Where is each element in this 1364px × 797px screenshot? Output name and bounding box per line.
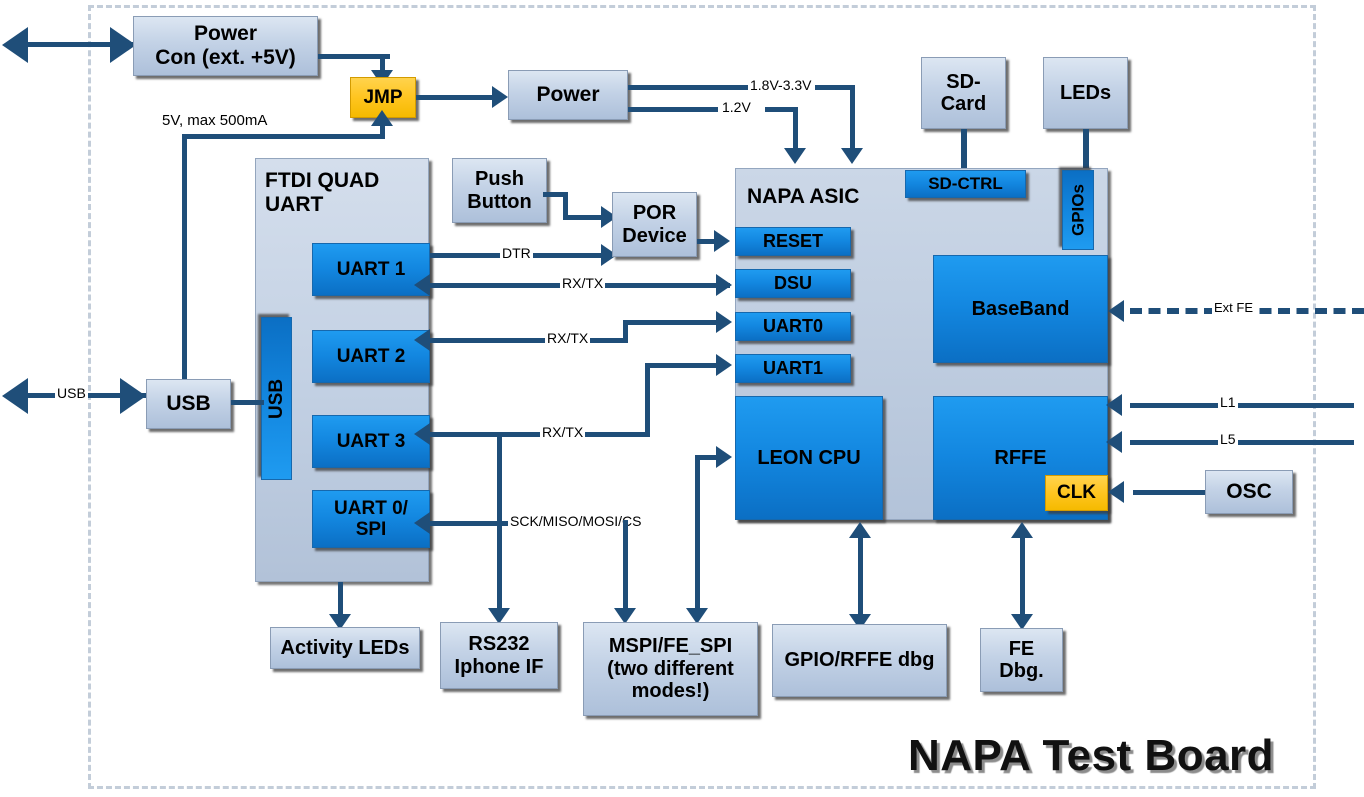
block-gpios-label: GPIOs [1068, 184, 1087, 236]
arrowhead-rffe-l1 [1106, 394, 1122, 416]
wire-18v33v-v [850, 85, 855, 150]
block-usb-connector[interactable]: USB [146, 379, 231, 429]
block-uart3[interactable]: UART 3 [312, 415, 430, 468]
wire-label-usb-external: USB [55, 385, 88, 401]
arrowhead-rffe-l5 [1106, 431, 1122, 453]
arrowhead-jmp-bottom [371, 110, 393, 126]
block-uart0-spi[interactable]: UART 0/ SPI [312, 490, 430, 548]
wire-18v33v-h [628, 85, 750, 90]
block-mspi-fe-spi[interactable]: MSPI/FE_SPI (two different modes!) [583, 622, 758, 716]
block-usb-connector-label: USB [166, 392, 210, 416]
block-sd-ctrl[interactable]: SD-CTRL [905, 170, 1026, 198]
arrowhead-baseband-extfe [1108, 300, 1124, 322]
block-rs232-iphone-if-label: RS232 Iphone IF [455, 633, 544, 678]
wire-label-12v: 1.2V [720, 99, 753, 115]
block-uart1-label: UART 1 [337, 259, 406, 280]
wire-rxtx3-vert [645, 363, 650, 435]
wire-label-5v: 5V, max 500mA [160, 112, 269, 129]
wire-fe-dbg [1020, 538, 1025, 618]
block-power-connector-label: Power Con (ext. +5V) [155, 22, 296, 69]
wire-18v33v-h2 [815, 85, 855, 90]
wire-pushbtn-h2 [563, 215, 603, 220]
block-power[interactable]: Power [508, 70, 628, 120]
block-sd-card[interactable]: SD- Card [921, 57, 1006, 129]
wire-5v-horizontal [182, 134, 385, 139]
wire-label-rxtx2: RX/TX [545, 330, 590, 346]
arrowhead-power-in [492, 86, 508, 108]
block-mspi-fe-spi-label: MSPI/FE_SPI (two different modes!) [607, 635, 734, 702]
arrowhead-fe-dbg-up [1011, 522, 1033, 538]
arrowhead-power-external-left [2, 27, 28, 63]
arrowhead-napa-power-12v [784, 148, 806, 164]
arrowhead-leon-cpu-in [716, 446, 732, 468]
block-sd-ctrl-label: SD-CTRL [928, 174, 1003, 193]
block-activity-leds[interactable]: Activity LEDs [270, 627, 420, 669]
wire-label-18v33v: 1.8V-3.3V [748, 77, 814, 93]
block-push-button-label: Push Button [467, 168, 531, 213]
wire-usbconn-to-ftdiusb [231, 400, 264, 405]
block-uart0-internal-label: UART0 [763, 316, 823, 336]
diagram-title: NAPA Test Board [908, 731, 1274, 781]
block-osc-label: OSC [1226, 480, 1272, 504]
block-fe-dbg[interactable]: FE Dbg. [980, 628, 1063, 692]
block-napa-asic-label: NAPA ASIC [747, 185, 859, 209]
wire-leon-left-vert [695, 455, 700, 612]
block-rs232-iphone-if[interactable]: RS232 Iphone IF [440, 622, 558, 689]
wire-mspi-left-vert [623, 520, 628, 612]
wire-label-ext-fe: Ext FE [1212, 300, 1255, 315]
arrowhead-uart1-rxtx [414, 274, 430, 296]
wire-label-l5: L5 [1218, 431, 1238, 447]
wire-jmp-to-power [416, 95, 494, 100]
block-ftdi-usb-port-label: USB [266, 378, 287, 418]
block-ftdi-quad-uart-label: FTDI QUAD UART [265, 169, 379, 216]
block-clk-label: CLK [1057, 482, 1096, 503]
wire-l5 [1130, 440, 1354, 445]
block-power-label: Power [536, 83, 599, 107]
wire-spi-vert-main [497, 432, 502, 612]
wire-label-rxtx3: RX/TX [540, 424, 585, 440]
block-uart2-label: UART 2 [337, 346, 406, 367]
block-leon-cpu-label: LEON CPU [757, 447, 860, 469]
arrowhead-uart3-rxtx [414, 423, 430, 445]
arrowhead-napa-power-18v [841, 148, 863, 164]
block-rffe-label: RFFE [994, 447, 1046, 469]
block-baseband-label: BaseBand [972, 298, 1070, 320]
wire-label-dtr: DTR [500, 245, 533, 261]
block-push-button[interactable]: Push Button [452, 158, 547, 223]
wire-gpio-rffe-dbg [858, 538, 863, 618]
block-power-connector[interactable]: Power Con (ext. +5V) [133, 16, 318, 76]
block-jmp-label: JMP [363, 87, 402, 108]
block-dsu[interactable]: DSU [735, 269, 851, 298]
block-por-device-label: POR Device [622, 202, 687, 247]
block-leds-label: LEDs [1060, 82, 1111, 104]
block-uart0-spi-label: UART 0/ SPI [334, 498, 408, 541]
wire-rxtx2-lower [430, 338, 628, 343]
block-activity-leds-label: Activity LEDs [281, 637, 410, 659]
wire-12v-h [628, 107, 718, 112]
arrowhead-usb-external-left [2, 378, 28, 414]
block-uart3-label: UART 3 [337, 431, 406, 452]
wire-rxtx2-upper [623, 320, 718, 325]
block-leon-cpu[interactable]: LEON CPU [735, 396, 883, 520]
block-sd-card-label: SD- Card [941, 71, 987, 116]
wire-5v-vertical [182, 134, 187, 382]
block-gpio-rffe-dbg[interactable]: GPIO/RFFE dbg [772, 624, 947, 697]
wire-rxtx3-upper [645, 363, 718, 368]
napa-test-board-diagram: USB Power Con (ext. +5V) JMP 5V, max 500… [0, 0, 1364, 797]
block-uart1-internal-label: UART1 [763, 358, 823, 378]
block-baseband[interactable]: BaseBand [933, 255, 1108, 363]
wire-label-l1: L1 [1218, 394, 1238, 410]
block-uart0-internal[interactable]: UART0 [735, 312, 851, 341]
block-osc[interactable]: OSC [1205, 470, 1293, 514]
arrowhead-reset-in [714, 230, 730, 252]
arrowhead-dsu-rxtx [716, 274, 732, 296]
block-reset[interactable]: RESET [735, 227, 851, 256]
arrowhead-uart2-rxtx [414, 329, 430, 351]
arrowhead-uart0spi [414, 512, 430, 534]
block-uart1[interactable]: UART 1 [312, 243, 430, 296]
block-reset-label: RESET [763, 231, 823, 251]
block-por-device[interactable]: POR Device [612, 192, 697, 257]
wire-label-rxtx1: RX/TX [560, 275, 605, 291]
arrowhead-clk-in [1108, 481, 1124, 503]
wire-l1 [1130, 403, 1354, 408]
wire-12v-v [793, 107, 798, 150]
block-leds[interactable]: LEDs [1043, 57, 1128, 129]
block-uart2[interactable]: UART 2 [312, 330, 430, 383]
block-clk[interactable]: CLK [1045, 475, 1108, 511]
block-gpios[interactable]: GPIOs [1062, 170, 1094, 250]
block-fe-dbg-label: FE Dbg. [999, 638, 1043, 683]
arrowhead-usb-external-right [120, 378, 146, 414]
arrowhead-gpio-rffe-dbg-up [849, 522, 871, 538]
wire-osc-to-clk [1133, 490, 1205, 495]
wire-ftdi-to-activity-leds [338, 582, 343, 618]
block-ftdi-usb-port[interactable]: USB [261, 317, 292, 480]
arrowhead-uart1-internal [716, 354, 732, 376]
block-gpio-rffe-dbg-label: GPIO/RFFE dbg [785, 649, 935, 671]
block-dsu-label: DSU [774, 273, 812, 293]
block-uart1-internal[interactable]: UART1 [735, 354, 851, 383]
arrowhead-uart0-internal [716, 311, 732, 333]
